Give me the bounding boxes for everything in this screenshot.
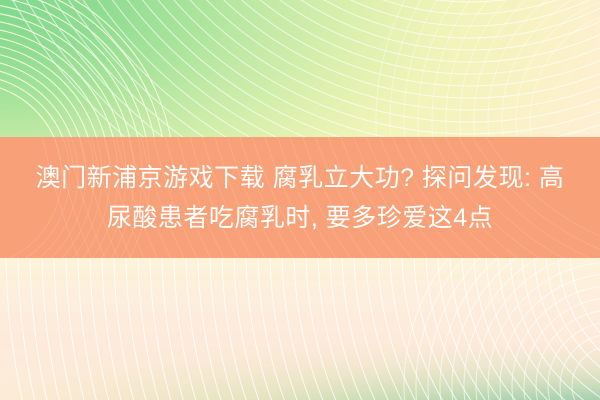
title-banner-band: 澳门新浦京游戏下载 腐乳立大功? 探问发现: 高 尿酸患者吃腐乳时, 要多珍爱这… (0, 137, 600, 258)
background-bottom-wash (0, 255, 600, 400)
banner-image: 澳门新浦京游戏下载 腐乳立大功? 探问发现: 高 尿酸患者吃腐乳时, 要多珍爱这… (0, 0, 600, 400)
banner-title-line-1: 澳门新浦京游戏下载 腐乳立大功? 探问发现: 高 (36, 158, 565, 198)
banner-title-line-2: 尿酸患者吃腐乳时, 要多珍爱这4点 (107, 198, 493, 238)
